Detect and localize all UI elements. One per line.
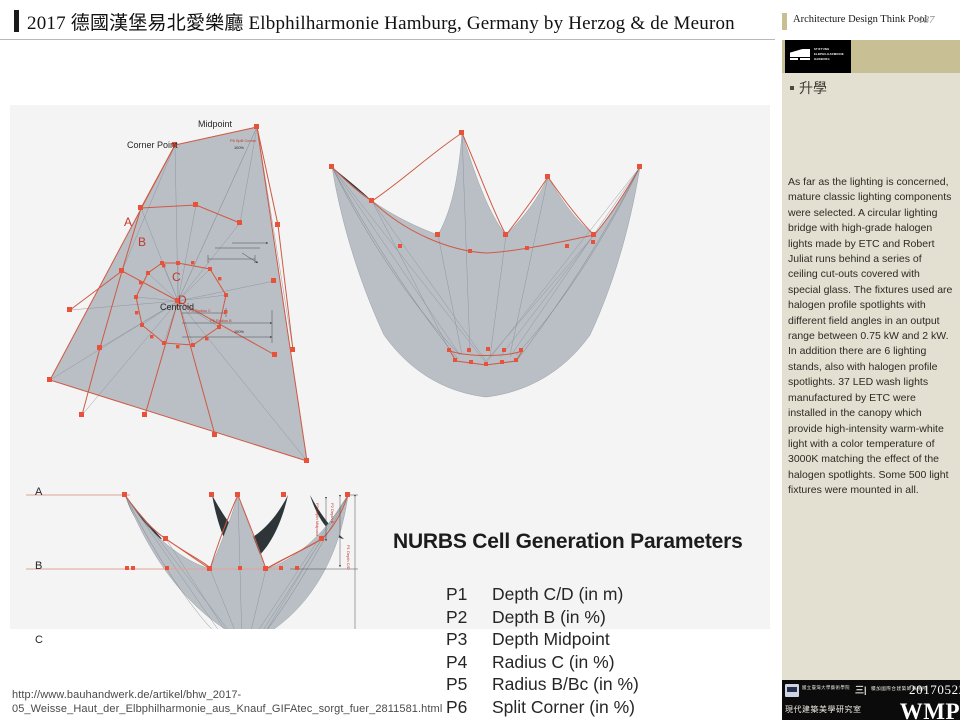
surface-perspective-group xyxy=(329,130,642,397)
diagram-title: NURBS Cell Generation Parameters xyxy=(393,530,743,554)
logo-line-2: ELBPHILHARMONIE xyxy=(814,53,844,56)
label-level-b: B xyxy=(138,235,146,249)
parameter-label: Depth C/D (in m) xyxy=(492,584,623,604)
page-header: 2017 德國漢堡易北愛樂廳 Elbphilharmonie Hamburg, … xyxy=(0,0,960,40)
parameter-label: Depth B (in %) xyxy=(492,607,606,627)
org1-logo-icon xyxy=(785,684,799,697)
header-right-group: Architecture Design Think Pool 187 xyxy=(782,12,960,32)
label-level-c: C xyxy=(172,270,181,284)
header-right-accent-bar xyxy=(782,13,787,30)
org1-label: 國立臺灣大學藝術學院 xyxy=(802,685,850,690)
label-level-d: D xyxy=(178,293,187,307)
page-number: 187 xyxy=(918,14,935,26)
header-divider xyxy=(0,39,775,40)
label-section-b: B xyxy=(35,560,42,572)
label-midpoint: Midpoint xyxy=(198,119,232,129)
brand-label: Architecture Design Think Pool xyxy=(793,14,927,25)
date-label: 20170522 xyxy=(909,682,960,698)
right-sidebar: STIFTUNG ELBPHILHARMONIE HAMBURG 升學 As f… xyxy=(782,40,960,680)
sidebar-footer: 國立臺灣大學藝術學院 三| 積加國際合建築師事務所 20170522 現代建築美… xyxy=(782,680,960,720)
elbphilharmonie-logo: STIFTUNG ELBPHILHARMONIE HAMBURG xyxy=(785,40,851,73)
section-elevation-group xyxy=(26,492,358,629)
wmp-logo-label: WMP xyxy=(900,702,960,722)
label-radius-pct: 100% xyxy=(234,329,244,334)
parameter-label: Radius C (in %) xyxy=(492,652,615,672)
sidebar-body-text: As far as the lighting is concerned, mat… xyxy=(788,175,954,499)
source-url[interactable]: http://www.bauhandwerk.de/artikel/bhw_20… xyxy=(12,688,772,716)
parameter-key: P1 xyxy=(446,583,492,606)
research-lab-label: 現代建築美學研究室 xyxy=(785,704,862,715)
label-section-a: A xyxy=(35,486,42,498)
parameter-row: P3Depth Midpoint xyxy=(446,628,639,651)
parameter-row: P2Depth B (in %) xyxy=(446,606,639,629)
org2-logo-icon: 三| xyxy=(855,684,868,696)
label-section-c: C xyxy=(35,634,43,646)
parameter-row: P4Radius C (in %) xyxy=(446,651,639,674)
title-accent-bar xyxy=(14,10,19,32)
label-depth-b: P2 Depth B xyxy=(330,503,335,523)
bullet-marker xyxy=(790,86,794,90)
parameter-label: Depth Midpoint xyxy=(492,629,610,649)
source-url-line1: http://www.bauhandwerk.de/artikel/bhw_20… xyxy=(12,688,772,702)
logo-line-3: HAMBURG xyxy=(814,58,830,61)
source-url-line2: 05_Weisse_Haut_der_Elbphilharmonie_aus_K… xyxy=(12,702,772,716)
label-split-corner-pct: 100% xyxy=(234,145,244,150)
elbphilharmonie-wave-icon xyxy=(790,46,810,60)
logo-line-1: STIFTUNG xyxy=(814,48,829,51)
diagram-panel: .surf{fill:#b9bfc5;stroke:#9aa1a8;stroke… xyxy=(10,105,770,629)
parameter-row: P1Depth C/D (in m) xyxy=(446,583,639,606)
label-radius-b: P5 Radius B xyxy=(210,318,232,323)
parameter-key: P3 xyxy=(446,628,492,651)
label-depth-cd: P1 Depth C/D xyxy=(346,545,351,570)
parameter-key: P4 xyxy=(446,651,492,674)
label-radius-c: P4 Radius C xyxy=(189,308,211,313)
page-title: 2017 德國漢堡易北愛樂廳 Elbphilharmonie Hamburg, … xyxy=(27,8,735,35)
sidebar-heading: 升學 xyxy=(799,78,827,98)
label-split-corner: P6 Split Corner xyxy=(230,138,256,143)
label-level-a: A xyxy=(124,215,132,229)
label-corner-point: Corner Point xyxy=(127,140,178,150)
parameter-key: P2 xyxy=(446,606,492,629)
label-depth-midpoint: P3 Depth Midpoint xyxy=(315,503,320,536)
